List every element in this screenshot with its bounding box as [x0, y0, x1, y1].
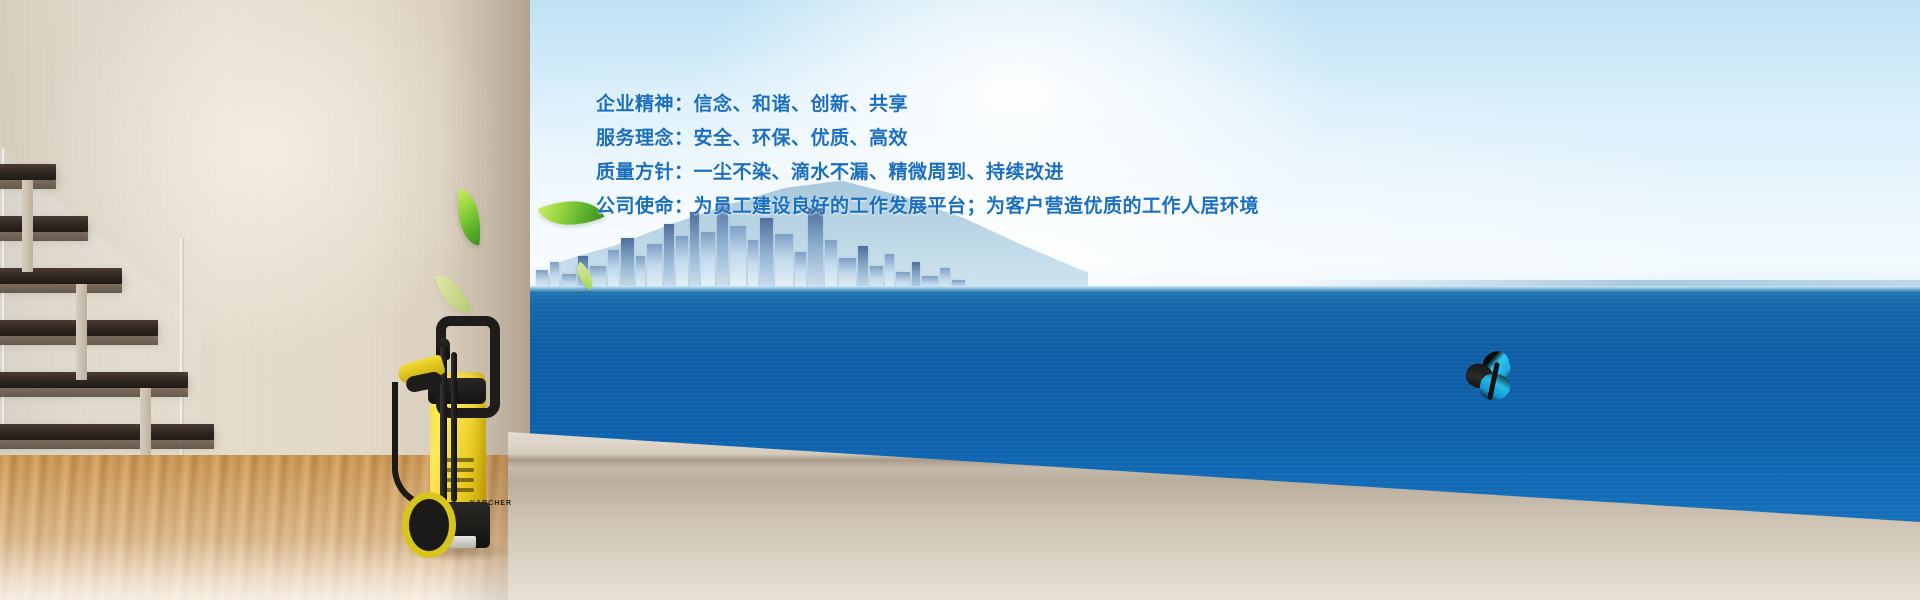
washer-lance-secondary: [451, 352, 457, 502]
washer-wheel: [402, 492, 456, 558]
slogan-line-service-philosophy: 服务理念：安全、环保、优质、高效: [596, 122, 1356, 156]
slogan-line-company-mission: 公司使命：为员工建设良好的工作发展平台；为客户营造优质的工作人居环境: [596, 190, 1356, 224]
pressure-washer: KARCHER: [396, 312, 516, 560]
horizon-line: [528, 286, 1920, 292]
slogan-block: 企业精神：信念、和谐、创新、共享 服务理念：安全、环保、优质、高效 质量方针：一…: [596, 88, 1356, 224]
butterfly-icon: [1466, 352, 1524, 408]
staircase: [0, 150, 220, 480]
promo-banner: KARCHER 企业精神：信念、和谐、创新、共享 服务理念：安全、环保、优质、高…: [0, 0, 1920, 600]
slogan-line-quality-policy: 质量方针：一尘不染、滴水不漏、精微周到、持续改进: [596, 156, 1356, 190]
slogan-line-corporate-spirit: 企业精神：信念、和谐、创新、共享: [596, 88, 1356, 122]
